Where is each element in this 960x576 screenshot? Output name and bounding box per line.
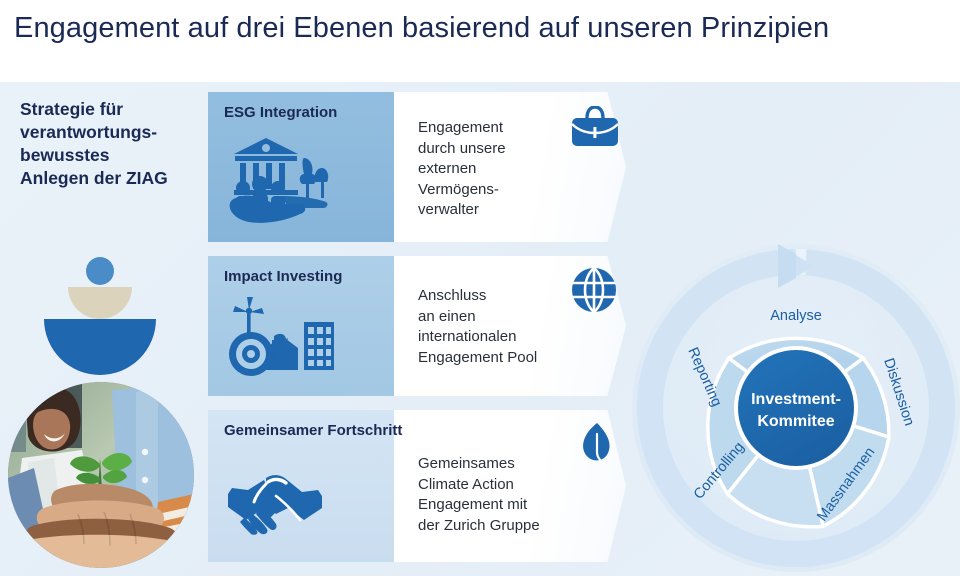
panel-1-body-line-2: durch unsere: [418, 139, 568, 160]
panel-1-body-line-1: Engagement: [418, 118, 568, 139]
panel-esg-integration[interactable]: ESG Integration: [208, 92, 626, 242]
figure-head-icon: [86, 257, 114, 285]
figure-beige-dome-icon: [68, 287, 132, 319]
handshake-icon: [226, 474, 324, 536]
briefcase-icon: [568, 106, 622, 152]
strategy-line-4: Anlegen der ZIAG: [20, 167, 200, 190]
cycle-hub-label-line-1: Investment-: [751, 391, 841, 408]
header-band: Engagement auf drei Ebenen basierend auf…: [0, 0, 960, 82]
panel-3-body-line-1: Gemeinsames: [418, 454, 598, 475]
strategy-line-1: Strategie für: [20, 98, 200, 121]
globe-icon: [570, 266, 618, 314]
panel-3-title: Gemeinsamer Fortschritt: [224, 421, 402, 440]
panel-3-title-line-1: Gemeinsamer: [224, 422, 323, 439]
strategy-heading: Strategie für verantwortungs- bewusstes …: [20, 98, 200, 190]
panel-2-body: Anschluss an einen internationalen Engag…: [418, 286, 588, 368]
panel-3-body-line-4: der Zurich Gruppe: [418, 516, 598, 537]
panel-gemeinsamer-fortschritt[interactable]: Gemeinsamer Fortschritt: [208, 410, 626, 562]
figure-blue-dome-icon: [44, 319, 156, 375]
panel-1-body-line-5: verwalter: [418, 200, 568, 221]
panel-3-title-line-2: Fortschritt: [327, 422, 402, 439]
panel-3-body-line-2: Climate Action: [418, 475, 598, 496]
panel-impact-investing[interactable]: Impact Investing: [208, 256, 626, 396]
panel-3-body-line-3: Engagement mit: [418, 495, 598, 516]
strategy-line-2: verantwortungs-: [20, 121, 200, 144]
slide-root: Engagement auf drei Ebenen basierend auf…: [0, 0, 960, 576]
panel-3-body: Gemeinsames Climate Action Engagement mi…: [418, 454, 598, 536]
panel-2-body-line-1: Anschluss: [418, 286, 588, 307]
page-title: Engagement auf drei Ebenen basierend auf…: [14, 11, 829, 45]
panel-1-title: ESG Integration: [224, 103, 337, 122]
panel-2-body-line-3: internationalen: [418, 327, 588, 348]
leaf-icon: [580, 422, 614, 468]
bank-people-trees-in-hand-icon: [226, 134, 330, 230]
strategy-line-3: bewusstes: [20, 144, 200, 167]
hands-holding-seedling-photo: [8, 382, 194, 568]
panel-2-body-line-4: Engagement Pool: [418, 348, 588, 369]
windmill-target-buildings-icon: [226, 296, 342, 380]
panel-1-body-line-3: externen: [418, 159, 568, 180]
cycle-hub-label-line-2: Kommitee: [757, 413, 834, 430]
panel-1-body-line-4: Vermögens-: [418, 180, 568, 201]
panel-2-body-line-2: an einen: [418, 307, 588, 328]
panel-2-title: Impact Investing: [224, 267, 342, 286]
panel-1-body: Engagement durch unsere externen Vermöge…: [418, 118, 568, 221]
cycle-segment-label-analyse: Analyse: [770, 308, 822, 324]
person-bowl-figure-icon: [30, 257, 170, 377]
investment-cycle-diagram[interactable]: Investment- Kommitee Analyse Diskussion …: [628, 236, 960, 572]
content-canvas: Strategie für verantwortungs- bewusstes …: [0, 82, 960, 576]
